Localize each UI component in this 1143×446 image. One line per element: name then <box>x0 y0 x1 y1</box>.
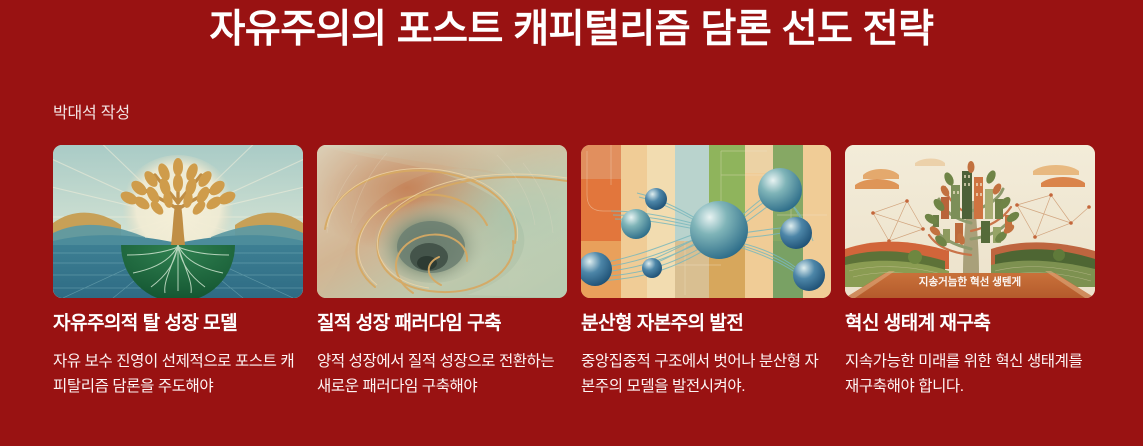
card-item[interactable]: 분산형 자본주의 발전 중앙집중적 구조에서 벗어나 분산형 자본주의 모델을 … <box>581 145 831 399</box>
card-grid: 자유주의적 탈 성장 모델 자유 보수 진영이 선제적으로 포스트 캐피탈리즘 … <box>53 145 1093 399</box>
card-heading: 자유주의적 탈 성장 모델 <box>53 313 303 336</box>
page-title: 자유주의의 포스트 캐피털리즘 담론 선도 전략 <box>0 8 1143 53</box>
thumbnail-caption-text: 지송거늠한 혁선 생텐게 <box>919 275 1021 288</box>
card-heading: 혁신 생태계 재구축 <box>845 313 1095 336</box>
tree-with-roots-icon <box>53 145 303 298</box>
byline-author: 박대석 작성 <box>53 99 130 123</box>
card-item[interactable]: 자유주의적 탈 성장 모델 자유 보수 진영이 선제적으로 포스트 캐피탈리즘 … <box>53 145 303 399</box>
card-item[interactable]: 질적 성장 패러다임 구축 양적 성장에서 질적 성장으로 전환하는 새로운 패… <box>317 145 567 399</box>
card-heading: 분산형 자본주의 발전 <box>581 313 831 336</box>
network-nodes-icon <box>581 145 831 298</box>
card-thumbnail[interactable] <box>581 145 831 298</box>
card-body: 자유 보수 진영이 선제적으로 포스트 캐피탈리즘 담론을 주도해야 <box>53 349 301 399</box>
card-thumbnail[interactable]: 지송거늠한 혁선 생텐게 <box>845 145 1095 298</box>
card-body: 양적 성장에서 질적 성장으로 전환하는 새로운 패러다임 구축해야 <box>317 349 565 399</box>
card-heading: 질적 성장 패러다임 구축 <box>317 313 567 336</box>
card-body: 지속가능한 미래를 위한 혁신 생태계를 재구축해야 합니다. <box>845 349 1093 399</box>
card-thumbnail[interactable] <box>317 145 567 298</box>
innovation-ecosystem-tree-icon: 지송거늠한 혁선 생텐게 <box>845 145 1095 298</box>
card-body: 중앙집중적 구조에서 벗어나 분산형 자본주의 모델을 발전시켜야. <box>581 349 829 399</box>
card-item[interactable]: 지송거늠한 혁선 생텐게 혁신 생태계 재구축 지속가능한 미래를 위한 혁신 … <box>845 145 1095 399</box>
card-thumbnail[interactable] <box>53 145 303 298</box>
spiral-vortex-icon <box>317 145 567 298</box>
